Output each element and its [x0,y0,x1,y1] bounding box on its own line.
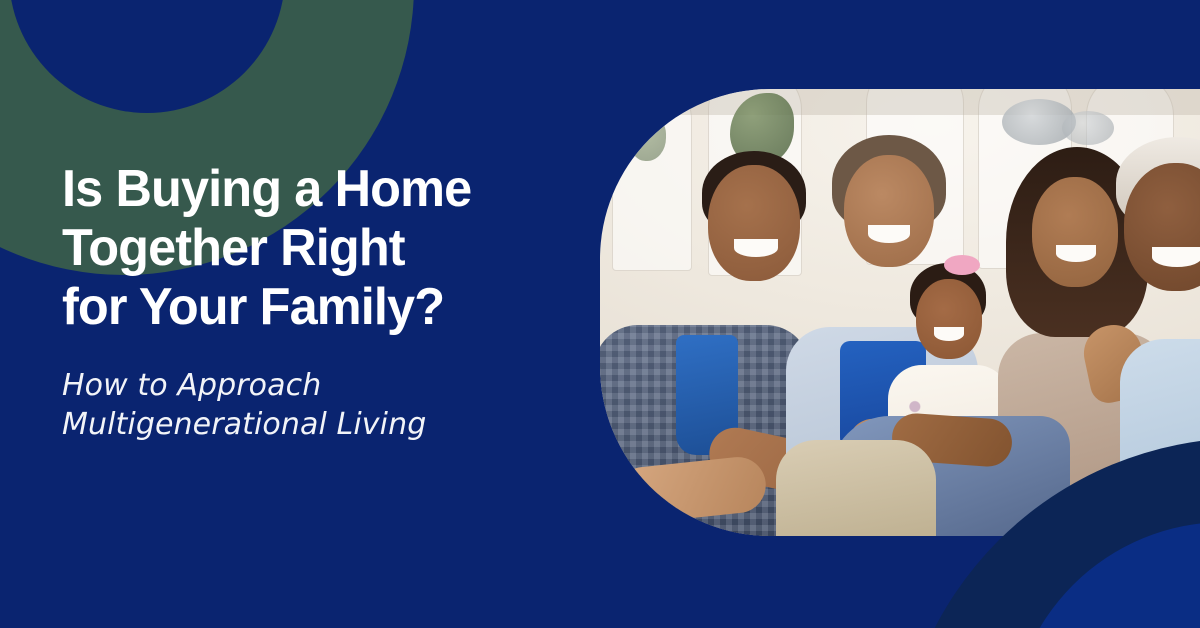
person-baby-head [916,279,982,359]
person-grandmother-head [844,155,934,267]
navy-inner-circle-shape [9,0,285,113]
person-man-left-head [708,165,800,281]
headline: Is Buying a Home Together Right for Your… [62,160,566,336]
person-man-left-smile [734,239,778,257]
room-shadow-band [600,89,1200,115]
khaki-lap [776,440,936,536]
person-grandfather-smile [1152,247,1200,267]
hero-banner: Is Buying a Home Together Right for Your… [0,0,1200,628]
family-photo-image [600,89,1200,536]
person-grandfather-torso [1120,339,1200,536]
person-grandmother-smile [868,225,910,243]
family-photo [600,89,1200,536]
baby-hair-bow-icon [944,255,980,275]
person-woman-right-smile [1056,245,1096,262]
lamp-secondary-icon [1062,111,1114,145]
person-woman-right-head [1032,177,1118,287]
subheadline: How to Approach Multigenerational Living [62,366,582,444]
text-block: Is Buying a Home Together Right for Your… [62,160,582,444]
person-baby-smile [934,327,964,341]
blue-bottom-right-circle-shape [1010,522,1200,628]
